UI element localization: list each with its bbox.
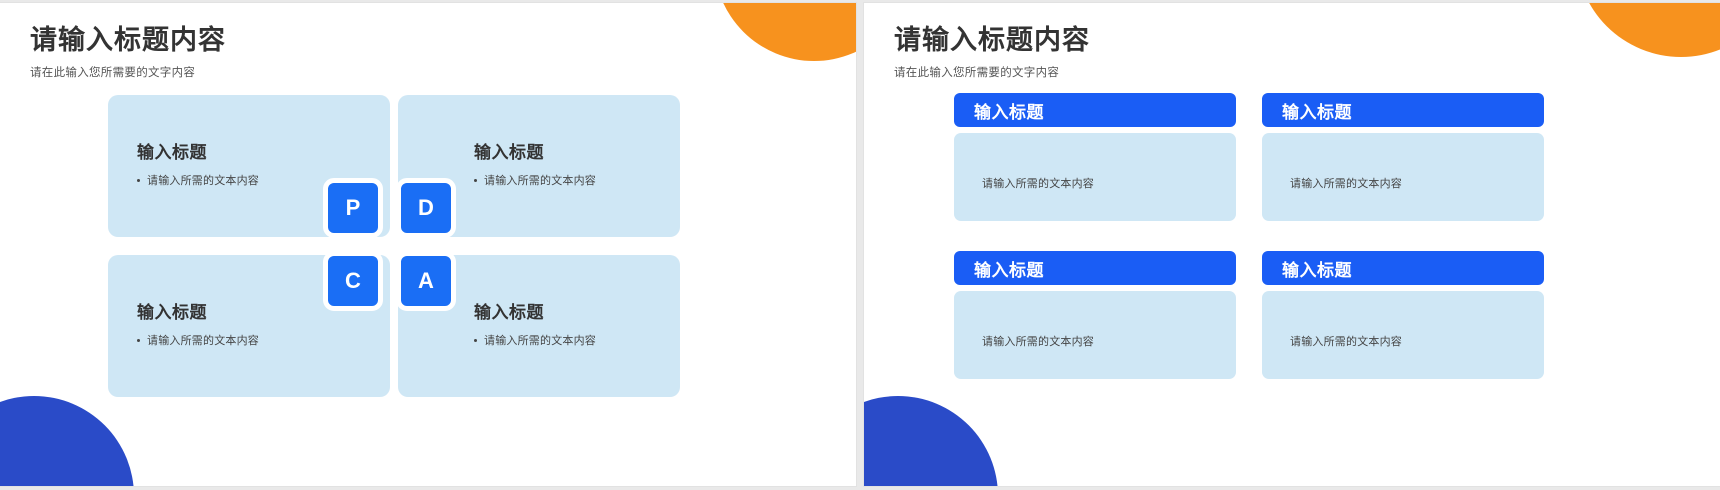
card-act-text: 请输入所需的文本内容 [484,332,596,348]
page-title: 请输入标题内容 [30,25,226,56]
bullet-icon [474,179,477,182]
bullet-icon [474,339,477,342]
card-act-content: 输入标题 请输入所需的文本内容 [474,298,596,348]
box-item-2-header: 输入标题 [1262,93,1544,127]
box-item-1-text: 请输入所需的文本内容 [982,175,1094,191]
card-do-line: 请输入所需的文本内容 [474,172,596,188]
box-item-2-body: 请输入所需的文本内容 [1262,133,1544,221]
orange-blob-decoration [714,3,856,61]
box-item-4[interactable]: 输入标题 请输入所需的文本内容 [1262,251,1544,379]
slide-deck: 请输入标题内容 请在此输入您所需要的文字内容 输入标题 请输入所需的文本内容 输… [0,0,1720,490]
card-plan-text: 请输入所需的文本内容 [147,172,259,188]
card-check-text: 请输入所需的文本内容 [147,332,259,348]
box-item-4-line: 请输入所需的文本内容 [1290,333,1402,349]
box-item-1[interactable]: 输入标题 请输入所需的文本内容 [954,93,1236,221]
box-item-3[interactable]: 输入标题 请输入所需的文本内容 [954,251,1236,379]
bullet-icon [137,179,140,182]
box-item-4-text: 请输入所需的文本内容 [1290,333,1402,349]
pdca-diagram: 输入标题 请输入所需的文本内容 输入标题 请输入所需的文本内容 [108,95,784,399]
box-item-3-body: 请输入所需的文本内容 [954,291,1236,379]
bullet-icon [137,339,140,342]
box-item-1-line: 请输入所需的文本内容 [982,175,1094,191]
card-check-content: 输入标题 请输入所需的文本内容 [137,298,259,348]
card-plan-content: 输入标题 请输入所需的文本内容 [137,138,259,188]
blue-blob-decoration [864,396,998,486]
box-item-2-line: 请输入所需的文本内容 [1290,175,1402,191]
card-do-text: 请输入所需的文本内容 [484,172,596,188]
box-item-1-body: 请输入所需的文本内容 [954,133,1236,221]
box-item-3-line: 请输入所需的文本内容 [982,333,1094,349]
slide-pdca[interactable]: 请输入标题内容 请在此输入您所需要的文字内容 输入标题 请输入所需的文本内容 输… [0,3,856,486]
box-item-1-header: 输入标题 [954,93,1236,127]
card-act-line: 请输入所需的文本内容 [474,332,596,348]
card-check-title: 输入标题 [137,298,259,323]
box-item-3-text: 请输入所需的文本内容 [982,333,1094,349]
letter-badge-d[interactable]: D [396,178,456,238]
box-item-4-body: 请输入所需的文本内容 [1262,291,1544,379]
slide-header: 请输入标题内容 请在此输入您所需要的文字内容 [894,25,1090,80]
page-subtitle: 请在此输入您所需要的文字内容 [894,64,1090,80]
page-subtitle: 请在此输入您所需要的文字内容 [30,64,226,80]
letter-badge-c[interactable]: C [323,251,383,311]
card-do-title: 输入标题 [474,138,596,163]
four-box-grid: 输入标题 请输入所需的文本内容 输入标题 请输入所需的文本内容 [954,93,1634,403]
slide-four-boxes[interactable]: 请输入标题内容 请在此输入您所需要的文字内容 输入标题 请输入所需的文本内容 输… [864,3,1720,486]
card-do-content: 输入标题 请输入所需的文本内容 [474,138,596,188]
box-item-4-header: 输入标题 [1262,251,1544,285]
box-item-3-header: 输入标题 [954,251,1236,285]
box-item-2[interactable]: 输入标题 请输入所需的文本内容 [1262,93,1544,221]
page-title: 请输入标题内容 [894,25,1090,56]
orange-blob-decoration [1576,3,1720,57]
card-act-title: 输入标题 [474,298,596,323]
box-item-2-text: 请输入所需的文本内容 [1290,175,1402,191]
card-plan-title: 输入标题 [137,138,259,163]
card-plan-line: 请输入所需的文本内容 [137,172,259,188]
letter-badge-a[interactable]: A [396,251,456,311]
letter-badge-p[interactable]: P [323,178,383,238]
blue-blob-decoration [0,396,134,486]
card-check-line: 请输入所需的文本内容 [137,332,259,348]
slide-header: 请输入标题内容 请在此输入您所需要的文字内容 [30,25,226,80]
